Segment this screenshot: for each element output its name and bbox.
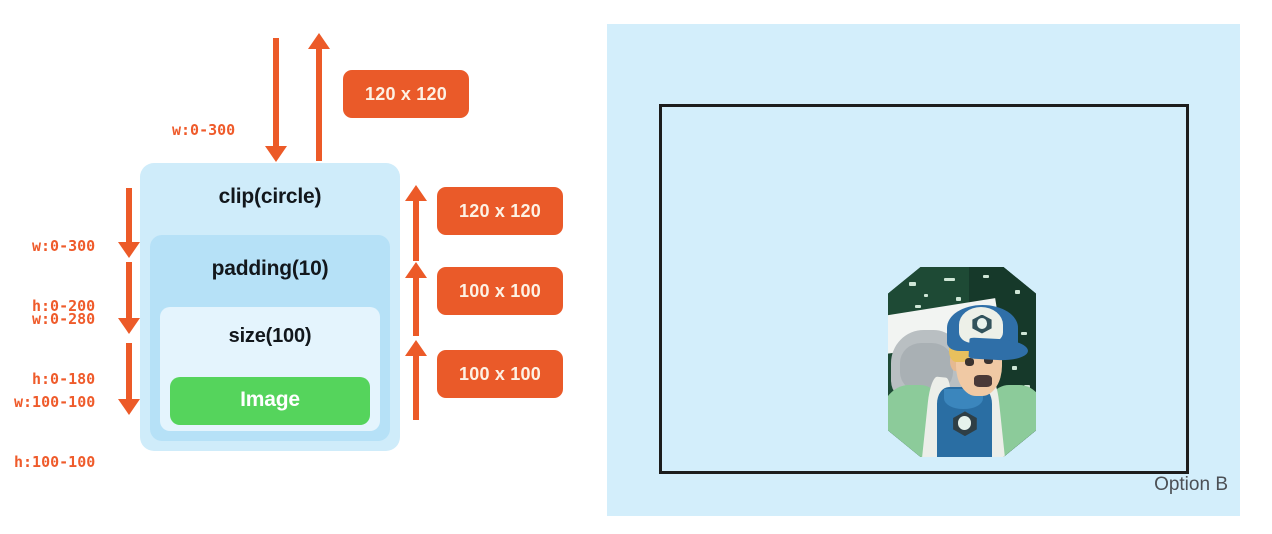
constraint-height-3: h:100-100 <box>14 452 95 472</box>
box-clip-circle: clip(circle) padding(10) size(100) Image <box>140 163 400 451</box>
constraint-width-0: w:0-300 <box>172 120 235 140</box>
constraint-width-2: w:0-280 <box>32 309 95 329</box>
size-badge-1: 120 x 120 <box>437 187 563 235</box>
constraint-width-1: w:0-300 <box>32 236 95 256</box>
preview-frame <box>659 104 1189 474</box>
box-label-size: size(100) <box>160 325 380 348</box>
avatar <box>888 267 1036 457</box>
size-up-arrow-1 <box>405 185 427 261</box>
size-up-arrow-2 <box>405 262 427 336</box>
box-padding: padding(10) size(100) Image <box>150 235 390 441</box>
box-label-image: Image <box>170 388 370 412</box>
box-label-clip-circle: clip(circle) <box>140 185 400 209</box>
avatar-artwork <box>888 267 1036 457</box>
constraint-down-arrow-2 <box>118 262 140 334</box>
box-size: size(100) Image <box>160 307 380 431</box>
size-badge-3: 100 x 100 <box>437 350 563 398</box>
size-up-arrow-3 <box>405 340 427 420</box>
size-badge-2: 100 x 100 <box>437 267 563 315</box>
constraint-flow-diagram: w:0-300 h:0-200 120 x 120 w:0-300 h:0-20… <box>0 0 600 534</box>
option-caption: Option B <box>1154 474 1228 496</box>
constraint-down-arrow-1 <box>118 188 140 258</box>
size-up-arrow-top <box>308 33 330 161</box>
incoming-constraint-label-3: w:100-100 h:100-100 <box>14 352 95 512</box>
option-b-preview: Option B <box>607 24 1240 516</box>
constraint-width-3: w:100-100 <box>14 392 95 412</box>
box-image: Image <box>170 377 370 425</box>
size-badge-0: 120 x 120 <box>343 70 469 118</box>
box-label-padding: padding(10) <box>150 257 390 281</box>
constraint-down-arrow-3 <box>118 343 140 415</box>
constraint-down-arrow-top <box>265 38 287 162</box>
